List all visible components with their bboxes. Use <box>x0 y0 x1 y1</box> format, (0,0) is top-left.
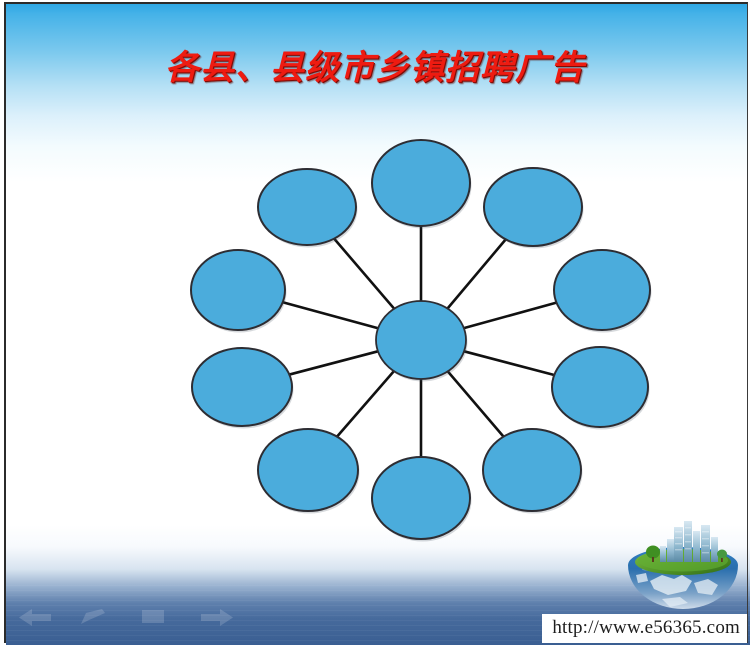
node-lower-right-ellipse[interactable] <box>483 429 581 511</box>
spoke-line-to-node-upper-right <box>448 239 506 308</box>
node-upper-left[interactable] <box>258 169 358 248</box>
node-bottom[interactable] <box>372 457 472 542</box>
spoke-line-to-node-lower-left <box>337 371 394 436</box>
node-bottom-ellipse[interactable] <box>372 457 470 539</box>
spoke-line-to-node-upper-left <box>334 239 394 309</box>
node-upper-left-ellipse[interactable] <box>258 169 356 245</box>
center-node[interactable] <box>376 301 468 382</box>
node-upper-right[interactable] <box>484 168 584 249</box>
diagram-nodes <box>191 140 652 542</box>
page-title: 各县、县级市乡镇招聘广告 <box>0 40 750 89</box>
spoke-line-to-node-lower-right <box>448 371 504 436</box>
node-top-ellipse[interactable] <box>372 140 470 226</box>
spoke-line-to-node-right-lower <box>464 351 554 375</box>
watermark-url: http://www.e56365.com <box>542 614 748 643</box>
node-left-lower-ellipse[interactable] <box>192 348 292 426</box>
node-left-upper[interactable] <box>191 250 287 333</box>
node-top[interactable] <box>372 140 472 229</box>
node-right-upper[interactable] <box>554 250 652 333</box>
node-right-lower-ellipse[interactable] <box>552 347 648 427</box>
spoke-line-to-node-left-upper <box>283 302 378 328</box>
node-left-upper-ellipse[interactable] <box>191 250 285 330</box>
node-left-lower[interactable] <box>192 348 294 429</box>
node-right-upper-ellipse[interactable] <box>554 250 650 330</box>
spoke-line-to-node-right-upper <box>464 303 557 329</box>
node-right-lower[interactable] <box>552 347 650 430</box>
slide-canvas: 各县、县级市乡镇招聘广告 <box>0 0 750 645</box>
globe-city-graphic <box>622 519 744 615</box>
node-upper-right-ellipse[interactable] <box>484 168 582 246</box>
center-node-ellipse[interactable] <box>376 301 466 379</box>
node-lower-left-ellipse[interactable] <box>258 429 358 511</box>
spoke-line-to-node-left-lower <box>289 351 378 374</box>
node-lower-right[interactable] <box>483 429 583 514</box>
node-lower-left[interactable] <box>258 429 360 514</box>
